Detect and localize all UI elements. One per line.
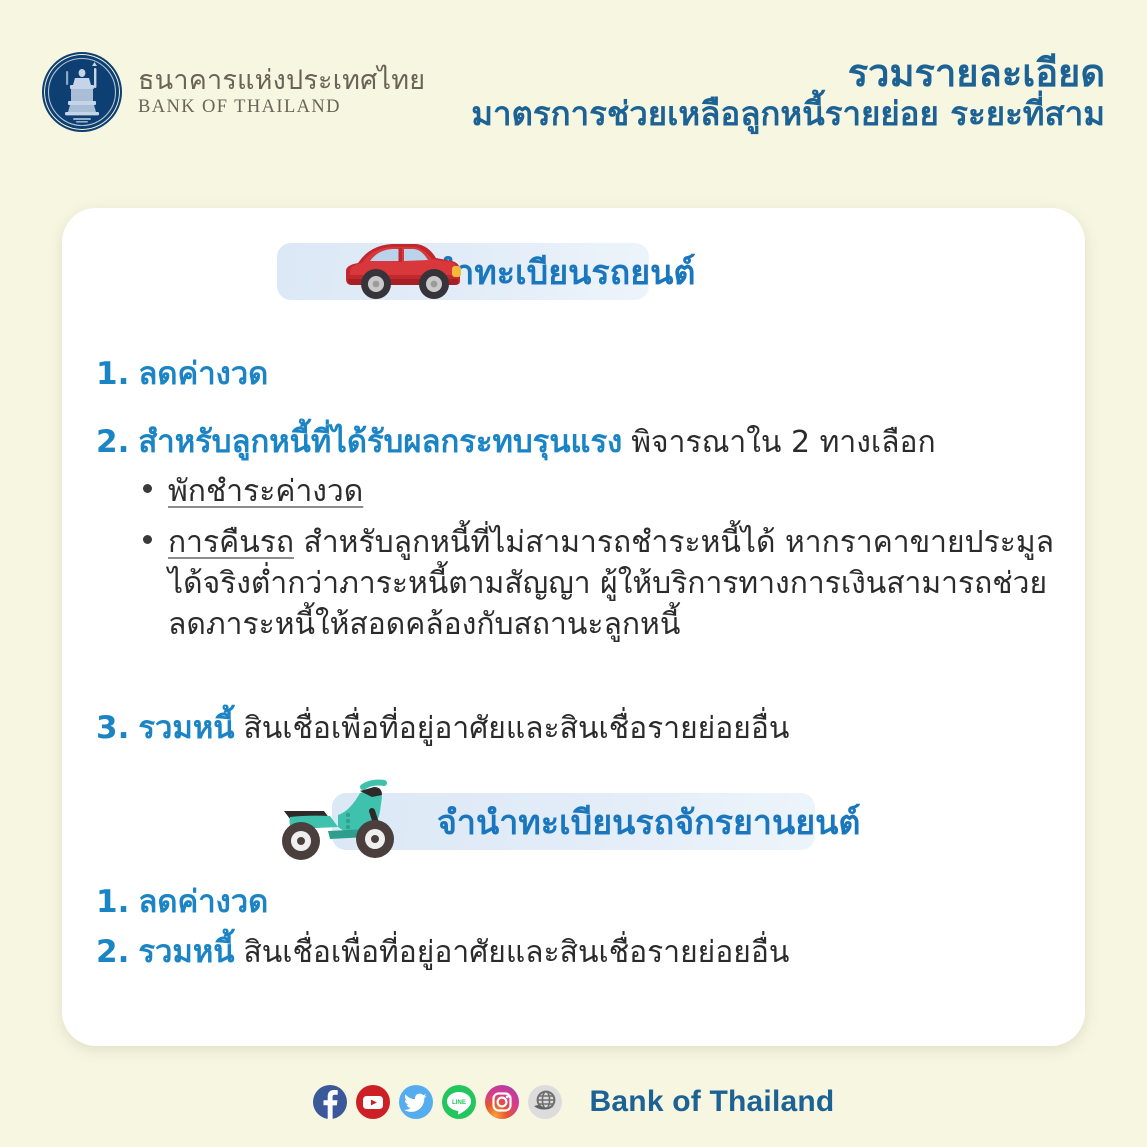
brand-logo-block: ธนาคารแห่งประเทศไทย BANK OF THAILAND [42, 52, 425, 132]
twitter-icon[interactable] [399, 1085, 433, 1119]
page-title-line-1: รวมรายละเอียด [471, 52, 1105, 95]
car-bullet-1: พักชำระค่างวด [143, 471, 1068, 512]
car-list-item-3-plain: สินเชื่อเพื่อที่อยู่อาศัยและสินเชื่อรายย… [243, 705, 789, 752]
car-bullet-2-underlined: การคืนรถ [168, 525, 294, 560]
youtube-icon[interactable] [356, 1085, 390, 1119]
car-bullet-1-text: พักชำระค่างวด [168, 471, 363, 512]
brand-text: ธนาคารแห่งประเทศไทย BANK OF THAILAND [138, 67, 425, 116]
car-list-item-1: 1. ลดค่างวด [96, 348, 268, 398]
bullet-dot-icon [143, 535, 152, 544]
instagram-icon[interactable] [485, 1085, 519, 1119]
website-globe-icon[interactable] [528, 1085, 562, 1119]
car-list-item-2: 2. สำหรับลูกหนี้ที่ได้รับผลกระทบรุนแรง พ… [96, 416, 936, 466]
bullet-dot-icon [143, 484, 152, 493]
motorcycle-list-item-2-number: 2. [96, 934, 129, 970]
motorcycle-list-item-1-highlight: ลดค่างวด [138, 876, 268, 926]
car-sub-bullet-list: พักชำระค่างวด การคืนรถ สำหรับลูกหนี้ที่ไ… [143, 471, 1068, 645]
page-title-line-2: มาตรการช่วยเหลือลูกหนี้รายย่อย ระยะที่สา… [471, 95, 1105, 134]
motorcycle-list-item-2-highlight: รวมหนี้ [138, 926, 234, 976]
motorcycle-list-item-1-number: 1. [96, 884, 129, 920]
motorcycle-list-item-2: 2. รวมหนี้ สินเชื่อเพื่อที่อยู่อาศัยและส… [96, 926, 789, 976]
motorcycle-list-item-2-plain: สินเชื่อเพื่อที่อยู่อาศัยและสินเชื่อรายย… [243, 929, 789, 976]
bot-seal-icon [42, 52, 122, 132]
section-header-motorcycle-label: จำนำทะเบียนรถจักรยานยนต์ [437, 795, 861, 849]
car-list-item-3-number: 3. [96, 710, 129, 746]
footer-org-name: Bank of Thailand [590, 1085, 835, 1119]
section-header-car: จำนำทะเบียนรถยนต์ [277, 243, 649, 300]
brand-name-thai: ธนาคารแห่งประเทศไทย [138, 67, 425, 95]
page-header: ธนาคารแห่งประเทศไทย BANK OF THAILAND รวม… [0, 0, 1147, 165]
facebook-icon[interactable] [313, 1085, 347, 1119]
car-bullet-1-underlined: พักชำระค่างวด [168, 474, 363, 509]
car-bullet-2-text: การคืนรถ สำหรับลูกหนี้ที่ไม่สามารถชำระหน… [168, 522, 1068, 645]
page-title: รวมรายละเอียด มาตรการช่วยเหลือลูกหนี้ราย… [471, 52, 1105, 133]
car-list-item-2-plain: พิจารณาใน 2 ทางเลือก [631, 419, 935, 466]
car-bullet-2-rest: สำหรับลูกหนี้ที่ไม่สามารถชำระหนี้ได้ หาก… [168, 525, 1054, 642]
car-list-item-3-highlight: รวมหนี้ [138, 702, 234, 752]
line-icon[interactable]: LINE [442, 1085, 476, 1119]
car-list-item-2-highlight: สำหรับลูกหนี้ที่ได้รับผลกระทบรุนแรง [138, 416, 622, 466]
car-list-item-3: 3. รวมหนี้ สินเชื่อเพื่อที่อยู่อาศัยและส… [96, 702, 789, 752]
car-list-item-1-number: 1. [96, 356, 129, 392]
motorcycle-list-item-1: 1. ลดค่างวด [96, 876, 268, 926]
page-footer: LINE Bank of Thailand [0, 1072, 1147, 1132]
car-list-item-1-highlight: ลดค่างวด [138, 348, 268, 398]
brand-name-english: BANK OF THAILAND [138, 98, 425, 117]
section-header-car-label: จำนำทะเบียนรถยนต์ [393, 245, 695, 299]
car-bullet-2: การคืนรถ สำหรับลูกหนี้ที่ไม่สามารถชำระหน… [143, 522, 1068, 645]
car-list-item-2-number: 2. [96, 424, 129, 460]
svg-text:LINE: LINE [451, 1099, 465, 1106]
section-header-motorcycle: จำนำทะเบียนรถจักรยานยนต์ [332, 793, 815, 850]
